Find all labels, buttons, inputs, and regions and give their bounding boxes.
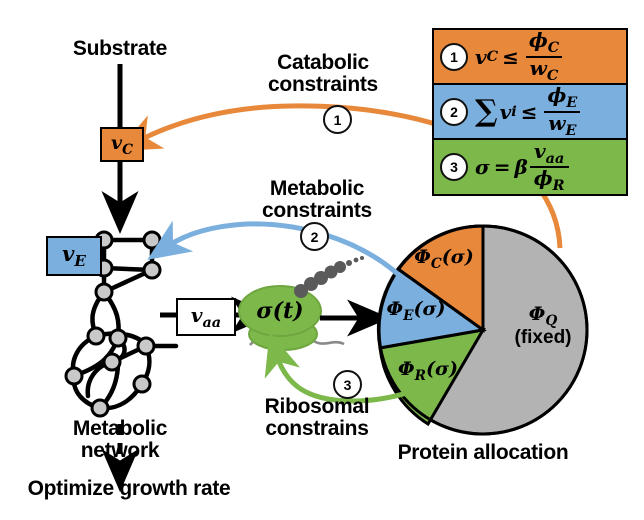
equation-2-number: 2 <box>440 98 468 126</box>
pie-label-phi-e: ΦE(σ) <box>362 300 470 323</box>
flux-box-vc-symbol: v <box>111 132 122 154</box>
ribosomal-constraints-line1: Ribosomal <box>222 396 412 418</box>
pie-label-phi-r: ΦR(σ) <box>374 360 482 383</box>
flux-box-vc: vC <box>100 127 144 162</box>
equation-2-numerator-group: ϕE <box>543 85 581 110</box>
pie-label-phi-r-arg: (σ) <box>426 358 458 380</box>
equation-1-numerator: ϕ <box>529 28 548 52</box>
metabolic-constraint-curve <box>168 224 400 276</box>
pie-label-phi-q-arg: (fixed) <box>488 328 598 348</box>
catabolic-constraints-line1: Catabolic <box>228 52 418 74</box>
equation-1-lhs-sub: C <box>487 48 498 65</box>
equation-2-lhs-sub: i <box>511 103 516 120</box>
flux-box-ve: vE <box>46 236 102 276</box>
equation-2-fraction: ϕE wE <box>543 85 581 137</box>
pie-label-phi-r-main: Φ <box>398 358 415 380</box>
equation-2-denominator-group: wE <box>544 111 580 138</box>
constraint-equation-panel: 1 vC ≤ ϕC wC 2 ∑ vi ≤ ϕE wE <box>432 28 628 196</box>
equation-3-denominator-sub: R <box>553 177 565 194</box>
equation-3-relation: = <box>494 155 511 179</box>
step-marker-2: 2 <box>300 222 329 251</box>
equation-2-relation: ≤ <box>521 100 538 124</box>
protein-allocation-label: Protein allocation <box>358 442 608 464</box>
flux-box-vaa-subscript: aa <box>202 314 221 331</box>
metabolic-network-label-line2: network <box>28 440 212 462</box>
equation-2-denominator-sub: E <box>565 122 576 139</box>
equation-3-fraction: vaa ϕR <box>530 141 569 193</box>
pie-label-phi-c-sub: C <box>431 256 442 272</box>
pie-label-phi-c: ΦC(σ) <box>390 248 498 271</box>
pie-label-phi-e-arg: (σ) <box>413 298 445 320</box>
flux-box-vaa-symbol: v <box>191 303 203 327</box>
pie-label-phi-q: ΦQ (fixed) <box>488 305 598 348</box>
equation-3-body: σ = β vaa ϕR <box>475 141 622 193</box>
equation-1-fraction: ϕC wC <box>525 30 563 82</box>
equation-1-body: vC ≤ ϕC wC <box>475 30 622 82</box>
pie-label-phi-c-arg: (σ) <box>442 246 474 268</box>
equation-2-summation: ∑ <box>475 100 498 124</box>
equation-1-lhs: v <box>475 45 487 69</box>
equation-3-coefficient: β <box>515 155 528 179</box>
metabolic-network-label-line1: Metabolic <box>28 418 212 440</box>
equation-row-2: 2 ∑ vi ≤ ϕE wE <box>434 85 626 140</box>
catabolic-constraints-label: Catabolic constraints <box>228 52 418 97</box>
polypeptide-chain <box>294 256 364 298</box>
pie-label-phi-e-sub: E <box>403 308 413 324</box>
flux-box-vc-subscript: C <box>122 141 133 157</box>
equation-1-numerator-sub: C <box>548 39 559 56</box>
flux-box-vaa: vaa <box>176 298 236 336</box>
equation-2-numerator-sub: E <box>566 94 577 111</box>
equation-3-denominator-group: ϕR <box>530 166 569 193</box>
pie-label-phi-c-main: Φ <box>414 246 431 268</box>
step-marker-3: 3 <box>333 370 362 399</box>
pie-label-phi-e-main: Φ <box>387 298 404 320</box>
catabolic-constraints-line2: constraints <box>228 74 418 96</box>
ribosome-sigma-label: σ(t) <box>240 298 320 324</box>
metabolic-network-label: Metabolic network <box>28 418 212 463</box>
equation-3-lhs: σ <box>475 155 490 179</box>
equation-row-1: 1 vC ≤ ϕC wC <box>434 30 626 85</box>
step-marker-1: 1 <box>323 105 352 134</box>
optimize-growth-rate-label: Optimize growth rate <box>4 478 254 500</box>
equation-3-denominator: ϕ <box>534 166 553 190</box>
equation-1-denominator: w <box>530 56 547 80</box>
equation-1-denominator-group: wC <box>526 56 563 83</box>
equation-row-3: 3 σ = β vaa ϕR <box>434 140 626 194</box>
flux-box-ve-subscript: E <box>74 253 86 271</box>
equation-1-number: 1 <box>440 43 468 71</box>
equation-2-numerator: ϕ <box>547 83 566 107</box>
equation-1-relation: ≤ <box>502 45 519 69</box>
ribosomal-constraints-line2: constrains <box>222 418 412 440</box>
equation-2-body: ∑ vi ≤ ϕE wE <box>475 85 622 137</box>
equation-3-numerator-group: vaa <box>530 141 568 166</box>
metabolic-constraints-label: Metabolic constraints <box>222 178 412 223</box>
equation-3-numerator-sub: aa <box>546 150 565 167</box>
equation-3-numerator: v <box>534 139 546 163</box>
equation-1-numerator-group: ϕC <box>525 30 563 55</box>
equation-2-denominator: w <box>548 111 565 135</box>
equation-2-lhs: v <box>500 100 512 124</box>
equation-3-number: 3 <box>440 153 468 181</box>
page-title-substrate: Substrate <box>40 38 200 60</box>
flux-box-ve-symbol: v <box>62 241 74 266</box>
metabolic-constraints-line1: Metabolic <box>222 178 412 200</box>
pie-label-phi-r-sub: R <box>415 368 426 384</box>
figure-canvas: Substrate Metabolic network Optimize gro… <box>0 0 644 520</box>
ribosomal-constraints-label: Ribosomal constrains <box>222 396 412 441</box>
equation-1-denominator-sub: C <box>547 67 558 84</box>
metabolic-constraints-line2: constraints <box>222 200 412 222</box>
pie-label-phi-q-main: Φ <box>529 303 546 325</box>
